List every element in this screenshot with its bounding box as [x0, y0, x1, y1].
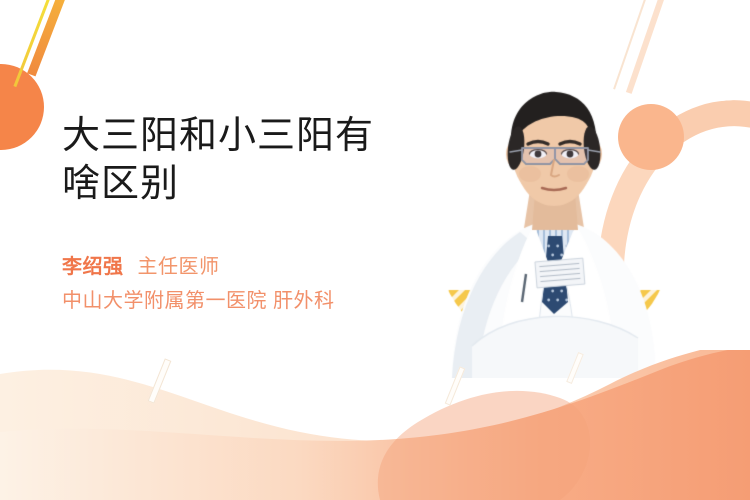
pale-stripe-decoration-b [613, 0, 649, 89]
faint-stripe-decoration-a [148, 358, 172, 403]
page-title: 大三阳和小三阳有 啥区别 [62, 112, 432, 208]
orange-circle-decoration [0, 64, 44, 150]
doctor-name: 李绍强 [62, 256, 124, 278]
orange-stripe-decoration [27, 0, 70, 76]
doctor-portrait [442, 78, 664, 378]
text-block: 大三阳和小三阳有 啥区别 李绍强主任医师 中山大学附属第一医院 肝外科 [62, 112, 432, 318]
video-cover-card: 大三阳和小三阳有 啥区别 李绍强主任医师 中山大学附属第一医院 肝外科 [0, 0, 750, 500]
doctor-affiliation: 中山大学附属第一医院 肝外科 [62, 284, 432, 318]
doctor-byline: 李绍强主任医师 [62, 250, 432, 284]
yellow-stripe-decoration [13, 0, 53, 87]
doctor-portrait-canvas [442, 78, 664, 378]
doctor-rank: 主任医师 [138, 256, 220, 278]
